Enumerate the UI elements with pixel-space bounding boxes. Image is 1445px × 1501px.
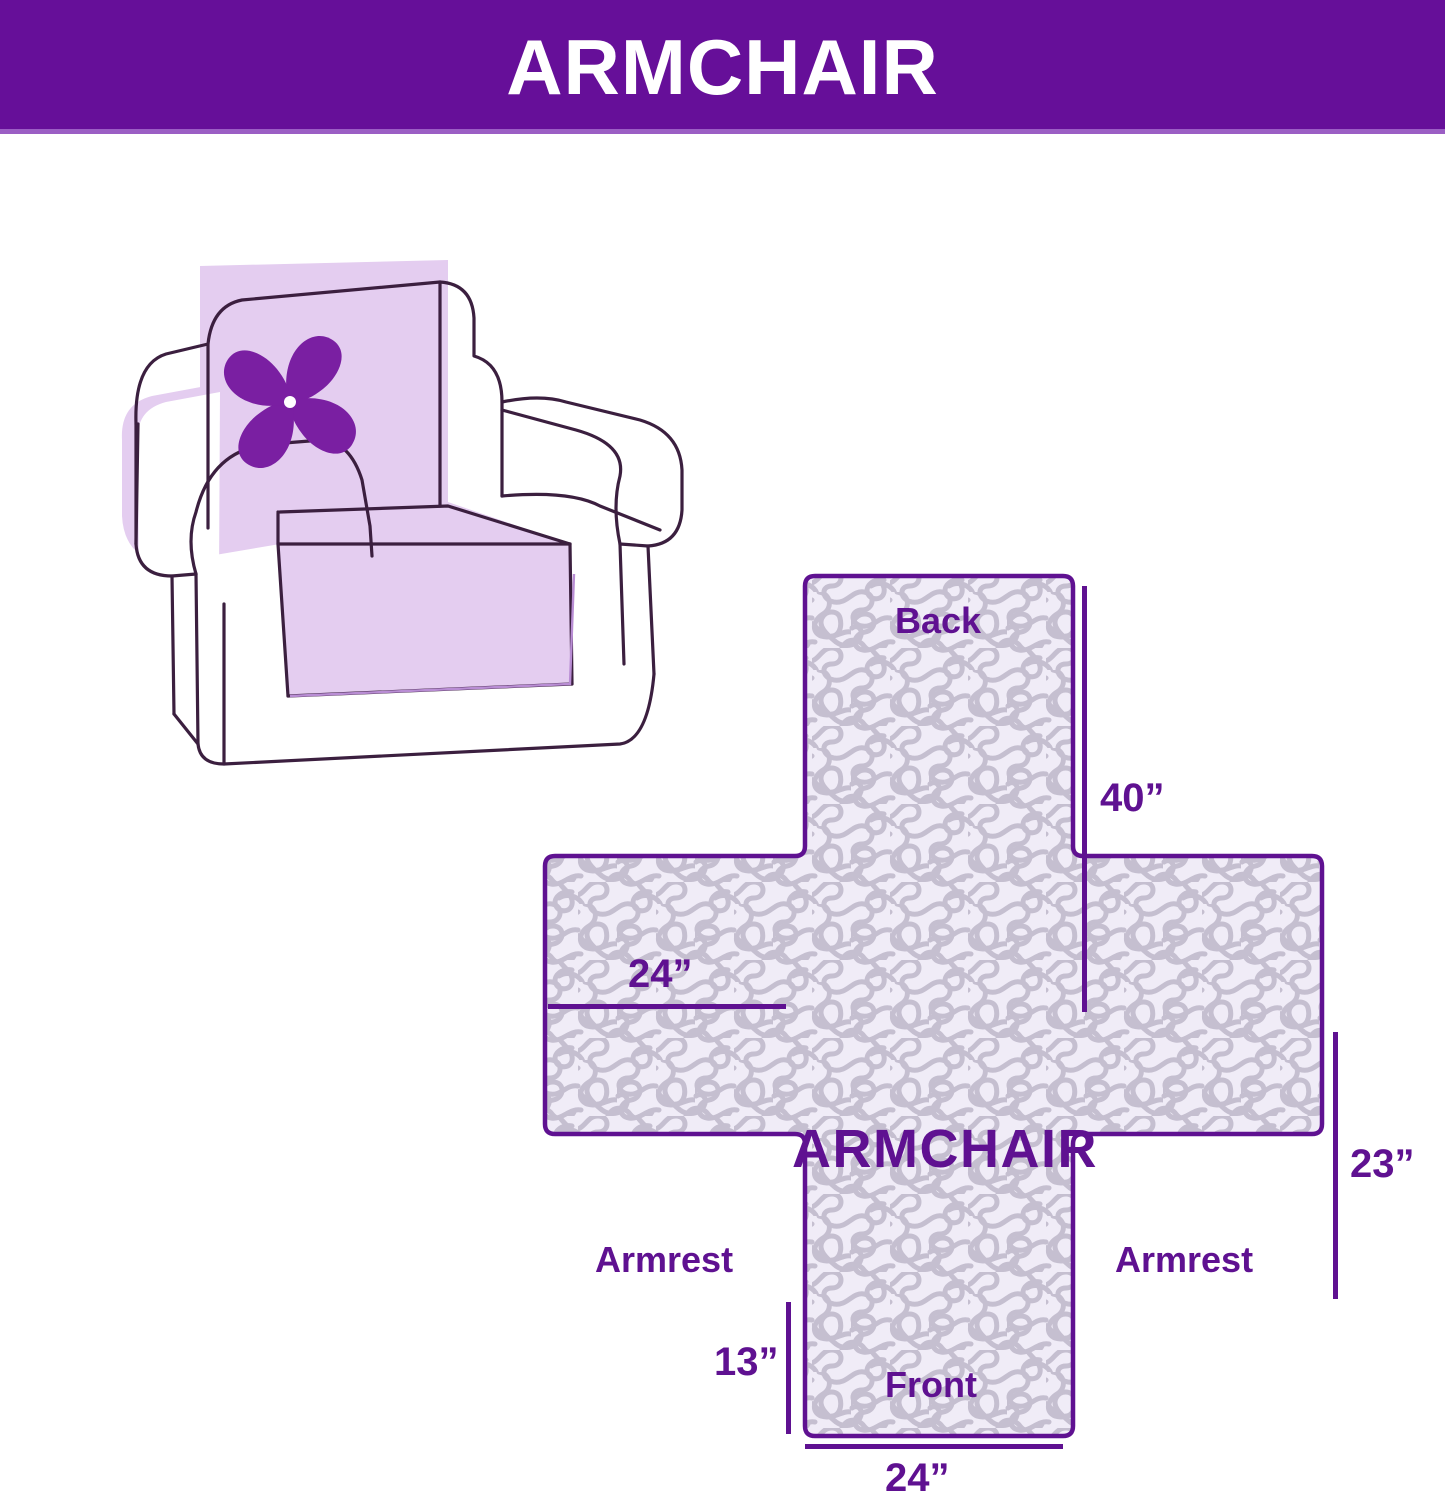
dimension-label-center-height: 23” <box>1350 1142 1415 1187</box>
dimension-line-back-height <box>1082 586 1087 1012</box>
panel-label-armrest-right: Armrest <box>1115 1239 1253 1281</box>
dimension-line-front-height <box>786 1302 791 1434</box>
dimension-label-front-width: 24” <box>885 1456 950 1501</box>
dimension-line-armrest-width <box>548 1004 786 1009</box>
dimension-line-center-height <box>1333 1032 1338 1299</box>
slipcover-shape-fill <box>500 414 1420 1444</box>
dimension-label-armrest-width: 24” <box>628 952 693 997</box>
panel-label-back: Back <box>895 600 981 642</box>
dimension-label-front-height: 13” <box>714 1340 779 1385</box>
header-banner: ARMCHAIR <box>0 0 1445 134</box>
panel-label-front: Front <box>885 1364 977 1406</box>
page-title: ARMCHAIR <box>506 28 939 106</box>
main-content-area: Back Armrest ARMCHAIR Armrest Front 40” … <box>0 134 1445 1445</box>
dimension-label-back-height: 40” <box>1100 776 1165 821</box>
panel-label-armrest-left: Armrest <box>595 1239 733 1281</box>
panel-label-center: ARMCHAIR <box>792 1118 1098 1180</box>
slipcover-cross-diagram: Back Armrest ARMCHAIR Armrest Front 40” … <box>500 414 1420 1444</box>
